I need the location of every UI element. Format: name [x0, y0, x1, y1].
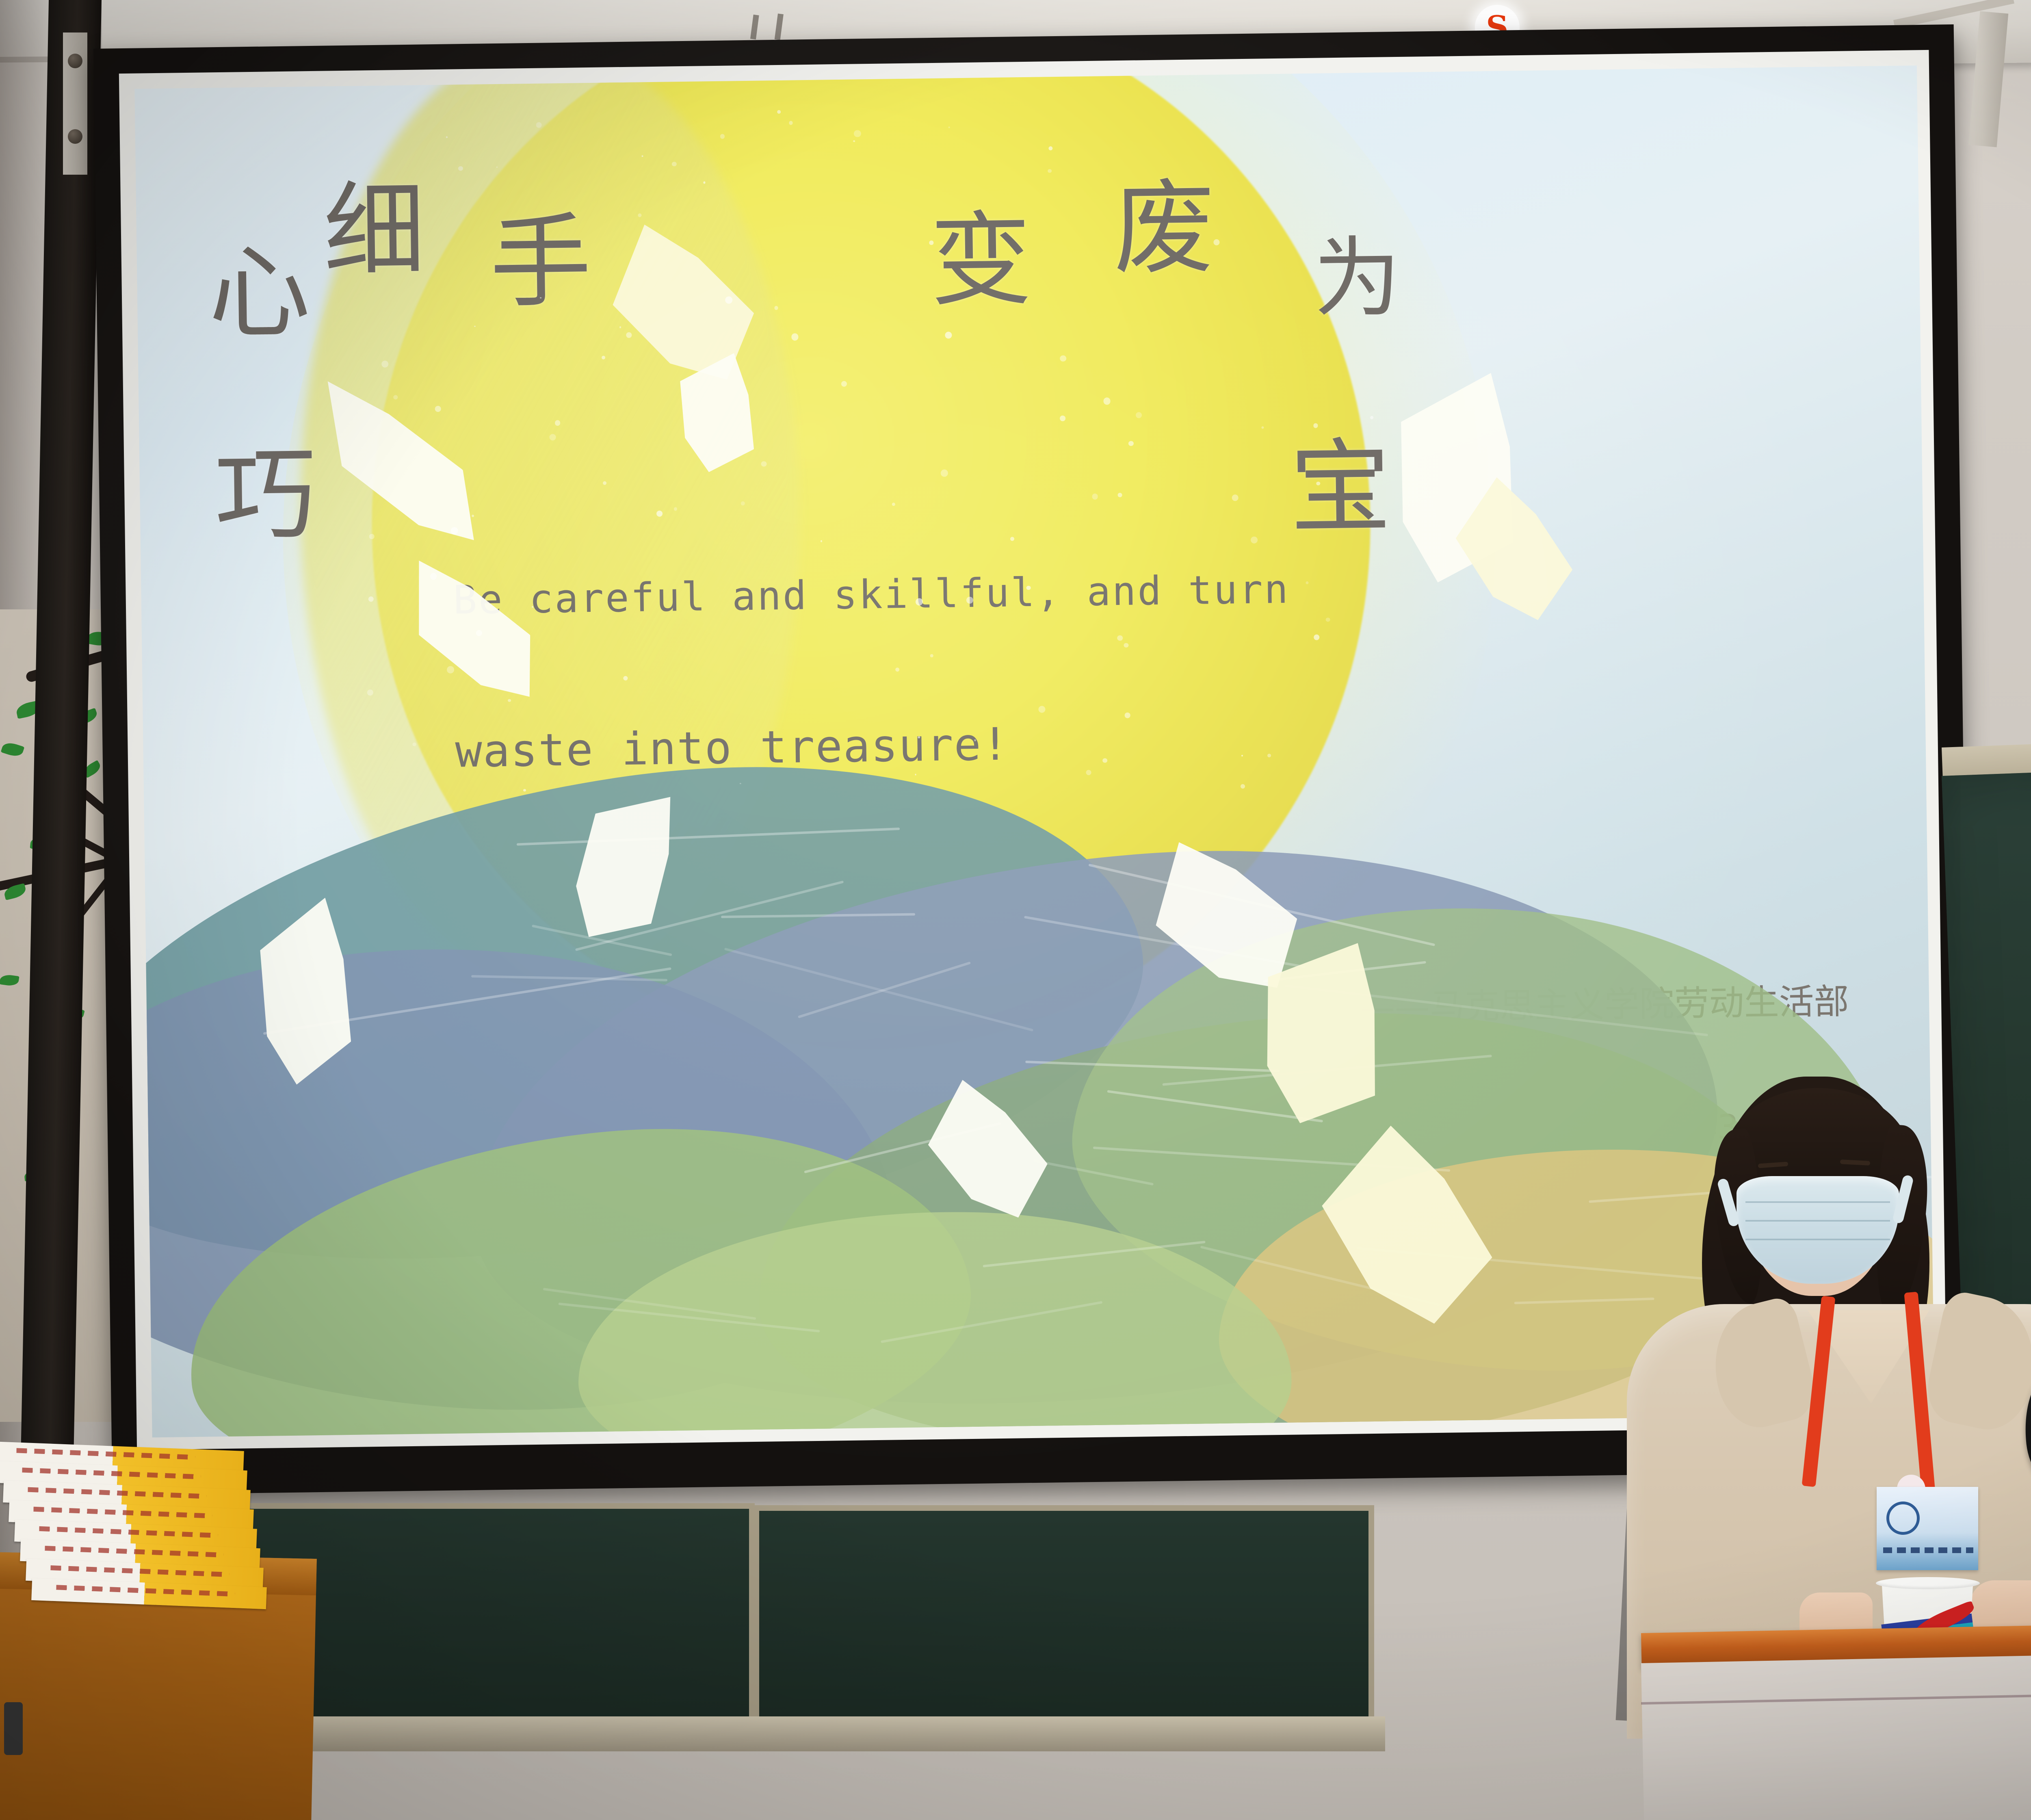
slide-speck: [549, 434, 556, 441]
slide-speck: [774, 306, 778, 310]
slide-speck: [945, 331, 952, 338]
slide-speck: [930, 654, 933, 657]
slide-speck: [1261, 427, 1264, 429]
slide-speck: [703, 181, 706, 184]
slide-char-1: 心: [208, 242, 311, 344]
slide-english-line-1: Be careful and skillful, and turn: [453, 566, 1290, 623]
slide-speck: [508, 699, 511, 702]
slide-speck: [446, 136, 447, 138]
slide-speck: [915, 774, 916, 775]
slide-speck: [496, 166, 498, 167]
slide-speck: [619, 326, 621, 328]
podium-front-panel: [1641, 1642, 2031, 1820]
badge-text-lines: [1883, 1547, 1973, 1553]
slide-speck: [1092, 494, 1098, 499]
book-spine-text: [16, 1448, 195, 1460]
slide-speck: [672, 162, 676, 166]
slide-speck: [430, 573, 437, 580]
power-plug-icon: [4, 1702, 23, 1755]
paper-cup-rim: [1876, 1577, 1980, 1589]
slide-speck: [895, 667, 899, 672]
slide-speck: [1103, 397, 1111, 405]
slide-speck: [966, 596, 973, 603]
slide-speck: [367, 689, 373, 695]
book-spine-text: [45, 1546, 223, 1558]
mural-leaf: [1, 741, 25, 759]
podium: 力科技学: [1641, 1633, 2031, 1820]
slide-speck: [368, 596, 374, 602]
mural-leaf: [0, 974, 19, 987]
slide-speck: [393, 395, 398, 399]
slide-speck: [1251, 536, 1258, 543]
slide-speck: [638, 213, 641, 217]
book-spine-text: [22, 1468, 201, 1480]
slide-speck: [1060, 416, 1065, 421]
book-spine-text: [33, 1507, 212, 1519]
screen-mount-bracket-left: [63, 32, 87, 175]
slide-speck: [918, 736, 920, 739]
slide-speck: [1010, 537, 1014, 541]
badge-logo-icon: [1886, 1501, 1920, 1535]
slide-speck: [774, 743, 776, 745]
slide-char-5: 变: [929, 209, 1032, 312]
slide-speck: [1117, 635, 1123, 641]
slide-speck: [974, 739, 976, 741]
slide-speck: [821, 540, 822, 542]
slide-char-4: 巧: [214, 444, 317, 547]
slide-char-7: 为: [1313, 234, 1401, 323]
slide-speck: [1213, 239, 1220, 245]
id-badge: [1877, 1487, 1978, 1570]
slide-speck: [948, 127, 950, 128]
slide-speck: [1048, 146, 1052, 150]
slide-speck: [412, 743, 416, 746]
slide-speck: [1314, 634, 1320, 640]
housing-seam-icon: [750, 15, 759, 39]
screw-icon: [68, 129, 82, 144]
slide-speck: [1326, 618, 1330, 622]
book-spine-text: [28, 1487, 206, 1499]
slide-speck: [941, 470, 948, 477]
slide-speck: [1060, 355, 1066, 362]
slide-speck: [1026, 585, 1031, 590]
slide-speck: [1117, 493, 1122, 497]
slide-speck: [741, 502, 745, 506]
chalkboard-lower-right: [754, 1505, 1374, 1740]
slide-speck: [720, 134, 725, 139]
slide-speck: [1124, 643, 1128, 648]
slide-speck: [523, 789, 526, 792]
slide-speck: [1048, 169, 1052, 173]
housing-seam-icon: [775, 13, 784, 40]
slide-char-6: 废: [1113, 177, 1215, 280]
slide-speck: [1102, 758, 1107, 763]
classroom-scene: S 心 细 手 巧 变 废 为 宝 Be c: [0, 0, 2031, 1820]
slide-char-2: 细: [323, 180, 426, 282]
book-spine-text: [50, 1565, 229, 1577]
book-spine-text: [56, 1585, 235, 1597]
slide-speck: [929, 240, 934, 245]
slide-char-8: 宝: [1289, 437, 1392, 539]
screw-icon: [68, 54, 82, 68]
slide-speck: [789, 121, 793, 125]
slide-speck: [1241, 755, 1243, 756]
slide-speck: [791, 334, 799, 341]
slide-speck: [853, 140, 855, 142]
slide-speck: [435, 406, 441, 412]
slide-speck: [474, 326, 475, 327]
slide-speck: [1125, 713, 1130, 718]
slide-speck: [1241, 784, 1245, 789]
slide-speck: [447, 666, 454, 673]
book-spine-text: [39, 1526, 218, 1538]
